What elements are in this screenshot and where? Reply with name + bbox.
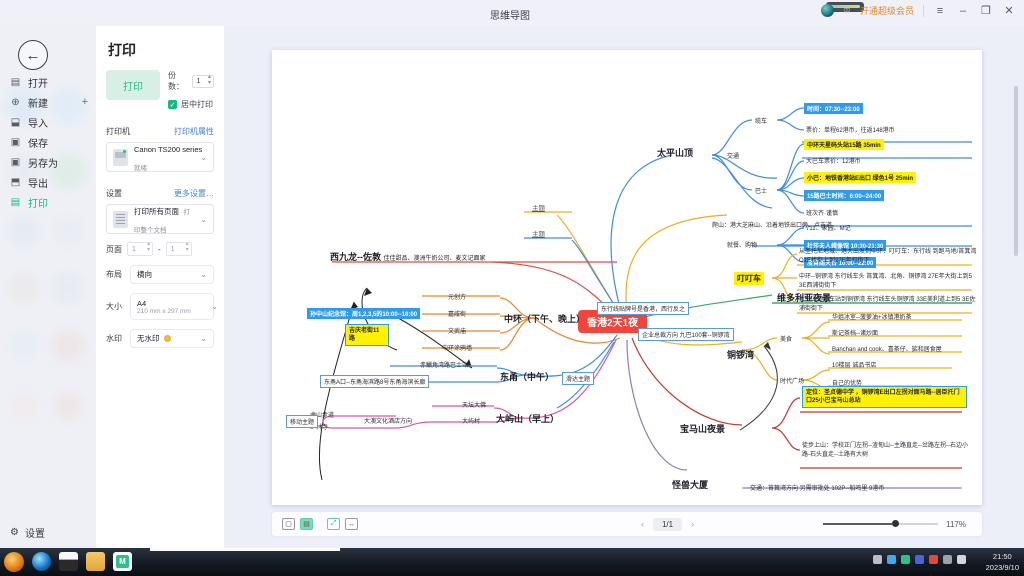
zoom-slider-fill xyxy=(823,523,892,525)
pages-from-input[interactable]: 1 xyxy=(127,242,153,256)
more-settings-link[interactable]: 更多设置… xyxy=(174,188,214,199)
mindmap-leaf[interactable]: 孙中山纪念馆：周1,2,3,5的10:00--18:00 xyxy=(307,308,420,319)
taskbar-penguin-icon[interactable] xyxy=(59,552,78,571)
size-value: A4 xyxy=(137,299,146,308)
sidebar-item-settings[interactable]: ⚙ 设置 xyxy=(10,525,45,540)
mindmap-topic-move-visible[interactable]: 移动主题 xyxy=(286,415,318,428)
mindmap-leaf[interactable]: 中环涂鸦墙 xyxy=(442,343,472,352)
chevron-down-icon: ⌄ xyxy=(200,215,207,224)
single-page-view-icon[interactable]: ▢ xyxy=(282,518,295,530)
windows-taskbar: M 21:50 2023/9/10 xyxy=(0,548,1024,576)
printer-icon xyxy=(113,149,128,166)
sidebar-item-open[interactable]: ▤ 打开 xyxy=(0,72,96,92)
chevron-down-icon: ⌄ xyxy=(200,334,207,343)
page-title: 打印 xyxy=(108,40,214,60)
maximize-button[interactable]: ❐ xyxy=(979,4,993,17)
fit-width-icon[interactable]: ↔ xyxy=(345,518,358,530)
mindmap-leaf[interactable]: 元创方 xyxy=(448,292,466,301)
mindmap-leaf[interactable]: 从圣托尼地城、港大出发到中环：叮叮车：东行线 到跑马地/筲箕湾 O1E找街上到2… xyxy=(799,248,979,265)
mindmap-leaf[interactable]: 滑达主题 xyxy=(562,372,594,385)
preview-scrollbar[interactable] xyxy=(1014,86,1018,256)
mindmap-leaf[interactable]: 吉庆老街11路 xyxy=(345,324,389,346)
start-button[interactable] xyxy=(4,552,24,572)
import-icon: ⬓ xyxy=(10,117,21,128)
mindmap-leaf[interactable]: 大巴车票价：12港币 xyxy=(806,156,861,165)
mindmap-floating-note[interactable]: 东行线贴牌号是香港，西行反之 xyxy=(597,302,689,315)
layout-value: 横向 xyxy=(137,269,152,280)
print-preview-area: 香港2天1夜 太平山顶 交通 缆车 巴士 时间：07:30--23:00 票价：… xyxy=(224,26,1024,548)
mindmap-leaf[interactable]: 天坛大佛 xyxy=(462,400,486,409)
divider xyxy=(923,5,924,17)
print-settings-panel: 打印 打印 份数： 1 ✓ 居中打印 打印机 打印机属性 Canon TS200… xyxy=(96,26,224,548)
mindmap-leaf[interactable]: 中环天星码头站15路 35min xyxy=(804,139,884,150)
sidebar-item-export[interactable]: ⬒ 导出 xyxy=(0,172,96,192)
tray-icon-5[interactable] xyxy=(929,555,938,564)
minimize-button[interactable]: – xyxy=(956,5,970,17)
mindmap-topic-braemar-hill[interactable]: 宝马山夜景 xyxy=(680,422,725,435)
topic-main: 西九龙--佐敦 xyxy=(330,252,381,262)
center-print-label: 居中打印 xyxy=(181,99,213,110)
mindmap-leaf[interactable]: 赤鱲角湾路巴士站 xyxy=(420,360,468,369)
sidebar-label: 保存 xyxy=(28,135,48,150)
page-range-select[interactable]: 打印所有页面 打印整个文档 ⌄ xyxy=(106,204,214,234)
chevron-down-icon: ⌄ xyxy=(200,153,207,162)
document-icon xyxy=(113,211,128,228)
clock-time: 21:50 xyxy=(986,551,1019,562)
open-window-indicator xyxy=(150,548,340,551)
mindmap-leaf[interactable]: 徒步上山：学校正门左拐--渣甸山--主路直走--岔路左拐--右边小路-石头直走-… xyxy=(802,442,972,460)
mindmap-leaf[interactable]: 斯记茶档--诸炒面 xyxy=(832,328,878,337)
mindmap-leaf[interactable]: 票价：单程62港币，往返148港币 xyxy=(806,125,895,134)
mindmap-leaf[interactable]: 中环--铜锣湾 东行线车头 筲箕湾、北角、铜锣湾 27E年大街上到5 3E西浦街… xyxy=(799,273,979,290)
next-page-button[interactable]: › xyxy=(691,519,694,529)
printer-properties-link[interactable]: 打印机属性 xyxy=(174,126,214,137)
size-label: 大小 xyxy=(106,301,124,312)
window-title-bar: 思维导图 ♔ 开通超级会员 ≡ – ❐ ✕ xyxy=(0,0,1024,26)
printer-icon: ▤ xyxy=(10,197,21,208)
gear-icon: ⚙ xyxy=(10,527,19,538)
sidebar-label: 打开 xyxy=(28,75,48,90)
watermark-value: 无水印 xyxy=(137,333,160,344)
center-print-checkbox[interactable]: ✓ xyxy=(168,100,177,109)
close-button[interactable]: ✕ xyxy=(1002,4,1016,17)
backstage-sidebar: ← ▤ 打开 ⊕ 新建 + ⬓ 导入 ▣ 保存 ▣ 另存为 xyxy=(0,26,96,548)
tray-icon-1[interactable] xyxy=(873,555,882,564)
mindmap-topic-west-kowloon[interactable]: 西九龙--佐敦 佳佳甜品、澳洲牛奶公司、麦文记面家 xyxy=(330,250,486,263)
mindmap-leaf[interactable]: 时间：07:30--23:00 xyxy=(804,103,863,114)
settings-section-label: 设置 xyxy=(106,188,122,199)
volume-icon[interactable] xyxy=(957,555,966,564)
mindmap-leaf[interactable]: 小巴：地铁香港站E出口 绿色1号 25min xyxy=(804,172,916,183)
watermark-label: 水印 xyxy=(106,333,124,344)
zoom-slider-handle[interactable] xyxy=(892,520,899,527)
sidebar-item-save[interactable]: ▣ 保存 xyxy=(0,132,96,152)
taskbar-mindmap-icon[interactable]: M xyxy=(113,552,132,571)
mindmap-node-cablecar[interactable]: 缆车 xyxy=(755,116,767,125)
layout-label: 布局 xyxy=(106,269,124,280)
mindmap-node-dining[interactable]: 就餐、购物 xyxy=(727,240,757,249)
printer-section-label: 打印机 xyxy=(106,126,130,137)
plus-icon[interactable]: + xyxy=(82,96,88,108)
sidebar-item-save-as[interactable]: ▣ 另存为 xyxy=(0,152,96,172)
window-title: 思维导图 xyxy=(490,7,530,22)
pages-dash: - xyxy=(158,245,161,254)
copies-stepper[interactable]: 1 xyxy=(192,75,214,88)
mindmap-note-causeway[interactable]: 企业总裁方向 九巴100套--铜锣湾 xyxy=(638,328,734,341)
save-as-icon: ▣ xyxy=(10,157,21,168)
mindmap-node-food[interactable]: 美食 xyxy=(780,334,792,343)
printer-status: 就绪 xyxy=(134,165,147,172)
pages-label: 页面 xyxy=(106,244,122,255)
mindmap-topic-dingdingche[interactable]: 叮叮车 xyxy=(734,272,764,285)
mindmap-leaf[interactable]: 大澳文化酒店方向 xyxy=(364,416,412,425)
mindmap-application-window: 思维导图 ♔ 开通超级会员 ≡ – ❐ ✕ ← ▤ 打开 ⊕ 新建 + xyxy=(0,0,1024,548)
layout-select[interactable]: 横向 ⌄ xyxy=(130,265,214,284)
range-title: 打印所有页面 xyxy=(134,207,179,216)
size-select[interactable]: A4 210 mm x 297 mm ⌄ xyxy=(130,293,214,320)
mindmap-leaf[interactable]: 15路巴士时间：6:00--24:00 xyxy=(804,190,884,201)
mindmap-leaf[interactable]: Banchan and cook、喜茶仔、掂和居食屋 xyxy=(832,344,942,353)
tray-icon-3[interactable] xyxy=(901,555,910,564)
zoom-level: 117% xyxy=(946,520,966,529)
print-button[interactable]: 打印 xyxy=(106,70,160,100)
chevron-down-icon: ⌄ xyxy=(200,270,207,279)
sidebar-label: 设置 xyxy=(25,525,45,540)
mindmap-topic-taipingshan[interactable]: 太平山顶 xyxy=(657,146,693,159)
mindmap-topic-placeholder-2[interactable]: 主题 xyxy=(532,228,545,238)
mindmap-leaf[interactable]: 东甬A口--东甬海滨路8号东甬海滨长廊 xyxy=(320,375,429,388)
system-tray xyxy=(873,555,966,564)
sidebar-label: 导出 xyxy=(28,175,48,190)
mindmap-node-bus[interactable]: 巴士 xyxy=(755,186,767,195)
new-icon: ⊕ xyxy=(10,97,21,108)
taskbar-clock[interactable]: 21:50 2023/9/10 xyxy=(986,551,1019,573)
watermark-dot-icon xyxy=(164,335,171,342)
topic-sub: 佳佳甜品、澳洲牛奶公司、麦文记面家 xyxy=(384,256,486,262)
sidebar-label: 导入 xyxy=(28,115,48,130)
mindmap-leaf[interactable]: 班次齐·谨慎 xyxy=(806,208,838,217)
page-indicator: 1/1 xyxy=(653,518,682,531)
printer-select[interactable]: Canon TS200 series 就绪 ⌄ xyxy=(106,142,214,172)
preview-page: 香港2天1夜 太平山顶 交通 缆车 巴士 时间：07:30--23:00 票价：… xyxy=(272,50,982,505)
taskbar-edge-icon[interactable] xyxy=(32,552,51,571)
sidebar-item-new[interactable]: ⊕ 新建 + xyxy=(0,92,96,112)
mindmap-leaf[interactable]: 10楼层 诚品书店 xyxy=(832,360,876,369)
mindmap-topic-causeway-bay[interactable]: 铜锣湾 xyxy=(727,348,754,361)
zoom-slider[interactable] xyxy=(823,523,938,525)
mindmap-node-times-square[interactable]: 时代广场 xyxy=(780,376,804,385)
pages-to-input[interactable]: 1 xyxy=(166,242,192,256)
mindmap-leaf[interactable]: 交通：筲箕湾方向 另需审批处 102P--船鸣里 9港币 xyxy=(750,483,884,492)
size-sub: 210 mm x 297 mm xyxy=(137,308,191,315)
mindmap-leaf[interactable]: 定位：圣贞德中学 ，铜锣湾E出口左拐对面马路--居臣托门口25小巴宝马山总站 xyxy=(802,386,967,408)
avatar[interactable] xyxy=(821,4,834,17)
mindmap-canvas: 香港2天1夜 太平山顶 交通 缆车 巴士 时间：07:30--23:00 票价：… xyxy=(272,50,982,505)
network-icon[interactable] xyxy=(943,555,952,564)
preview-toolbar: ▢ ▤ ⤢ ↔ ‹ 1/1 › 117% xyxy=(272,512,982,536)
export-icon: ⬒ xyxy=(10,177,21,188)
sidebar-item-print[interactable]: ▤ 打印 xyxy=(0,192,96,212)
mindmap-topic-tung-chung[interactable]: 东甬（中午） xyxy=(500,370,554,383)
sidebar-menu: ▤ 打开 ⊕ 新建 + ⬓ 导入 ▣ 保存 ▣ 另存为 ⬒ 导出 xyxy=(0,72,96,212)
mindmap-topic-monster-building[interactable]: 怪兽大厦 xyxy=(672,478,708,491)
mindmap-topic-victoria-night[interactable]: 维多利亚夜景 xyxy=(777,291,831,304)
sidebar-item-import[interactable]: ⬓ 导入 xyxy=(0,112,96,132)
sidebar-label: 打印 xyxy=(28,195,48,210)
printer-name: Canon TS200 series xyxy=(134,145,202,154)
watermark-select[interactable]: 无水印 ⌄ xyxy=(130,329,214,348)
mindmap-leaf[interactable]: 文武庙 xyxy=(448,326,466,335)
save-icon: ▣ xyxy=(10,137,21,148)
clock-date: 2023/9/10 xyxy=(986,562,1019,573)
mindmap-leaf[interactable]: 嘉咸街 xyxy=(448,309,466,318)
sidebar-label: 新建 xyxy=(28,95,48,110)
prev-page-button[interactable]: ‹ xyxy=(641,519,644,529)
mindmap-topic-lantau[interactable]: 大屿山（早上） xyxy=(496,412,559,425)
mindmap-topic-placeholder-1[interactable]: 主题 xyxy=(532,202,545,212)
copies-label: 份数： xyxy=(168,70,188,92)
chevron-down-icon: ⌄ xyxy=(211,302,218,311)
hamburger-menu-icon[interactable]: ≡ xyxy=(933,5,947,17)
back-button[interactable]: ← xyxy=(18,40,48,70)
crown-icon: ♔ xyxy=(843,5,851,16)
grid-view-icon[interactable]: ▤ xyxy=(300,518,313,530)
taskbar-file-explorer-icon[interactable] xyxy=(86,552,105,571)
mindmap-leaf[interactable]: 711、家园、M记 xyxy=(806,223,851,232)
tray-icon-2[interactable] xyxy=(887,555,896,564)
folder-icon: ▤ xyxy=(10,77,21,88)
vip-upgrade-link[interactable]: 开通超级会员 xyxy=(860,4,914,17)
mindmap-node-transport[interactable]: 交通 xyxy=(727,151,739,160)
mindmap-leaf[interactable]: 华姐冰室--菠萝油+冰镇港奶茶 xyxy=(832,312,912,321)
fit-page-icon[interactable]: ⤢ xyxy=(327,518,340,530)
mindmap-leaf[interactable]: 大屿村 xyxy=(462,416,480,425)
mindmap-topic-central[interactable]: 中环（下午、晚上） xyxy=(504,312,585,325)
sidebar-label: 另存为 xyxy=(28,155,58,170)
tray-icon-4[interactable] xyxy=(915,555,924,564)
